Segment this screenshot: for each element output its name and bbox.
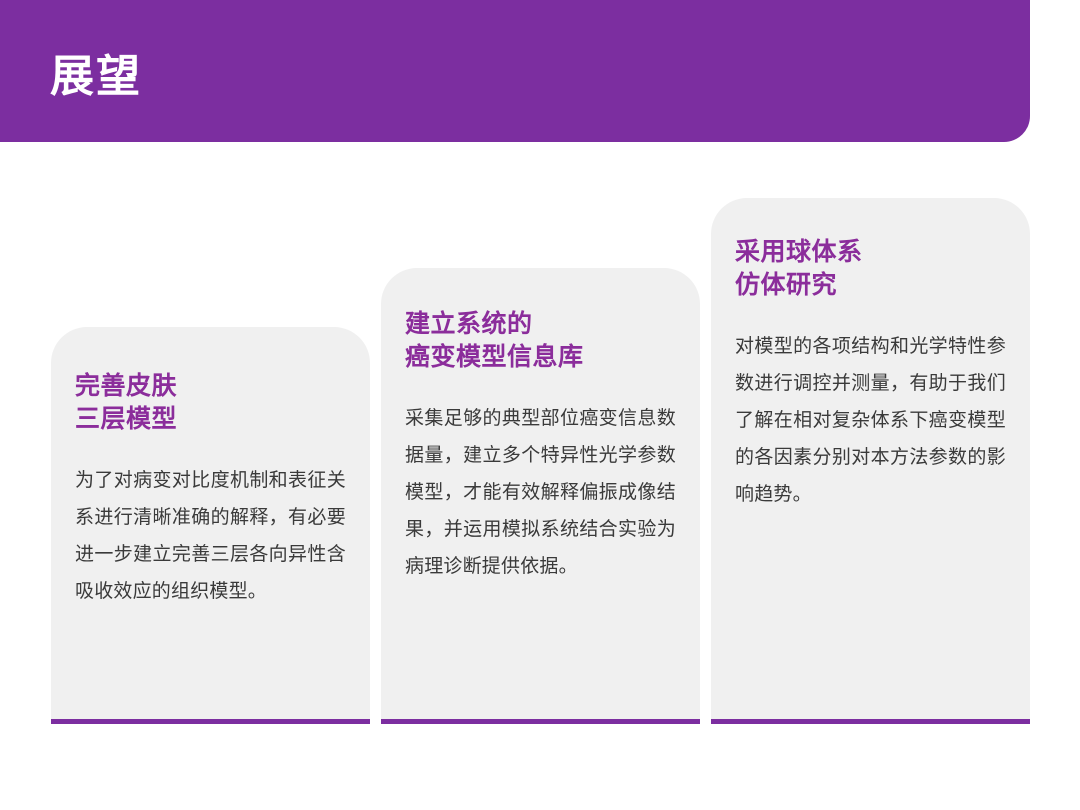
card-3-body: 对模型的各项结构和光学特性参数进行调控并测量，有助于我们了解在相对复杂体系下癌变…: [735, 328, 1006, 513]
page-title: 展望: [50, 55, 142, 99]
outlook-card-3: 采用球体系 仿体研究 对模型的各项结构和光学特性参数进行调控并测量，有助于我们了…: [711, 198, 1030, 724]
card-3-title: 采用球体系 仿体研究: [735, 236, 1006, 302]
card-2-body: 采集足够的典型部位癌变信息数据量，建立多个特异性光学参数模型，才能有效解释偏振成…: [405, 400, 676, 585]
card-1-accent-bar: [51, 719, 370, 724]
outlook-card-1: 完善皮肤 三层模型 为了对病变对比度机制和表征关系进行清晰准确的解释，有必要进一…: [51, 327, 370, 724]
card-2-title: 建立系统的 癌变模型信息库: [405, 308, 676, 374]
card-1-title: 完善皮肤 三层模型: [75, 370, 346, 436]
card-3-content: 采用球体系 仿体研究 对模型的各项结构和光学特性参数进行调控并测量，有助于我们了…: [711, 198, 1030, 719]
header-banner: 展望: [0, 0, 1030, 142]
card-2-content: 建立系统的 癌变模型信息库 采集足够的典型部位癌变信息数据量，建立多个特异性光学…: [381, 268, 700, 719]
card-1-content: 完善皮肤 三层模型 为了对病变对比度机制和表征关系进行清晰准确的解释，有必要进一…: [51, 327, 370, 719]
card-1-body: 为了对病变对比度机制和表征关系进行清晰准确的解释，有必要进一步建立完善三层各向异…: [75, 462, 346, 610]
card-3-accent-bar: [711, 719, 1030, 724]
outlook-card-2: 建立系统的 癌变模型信息库 采集足够的典型部位癌变信息数据量，建立多个特异性光学…: [381, 268, 700, 724]
card-2-accent-bar: [381, 719, 700, 724]
